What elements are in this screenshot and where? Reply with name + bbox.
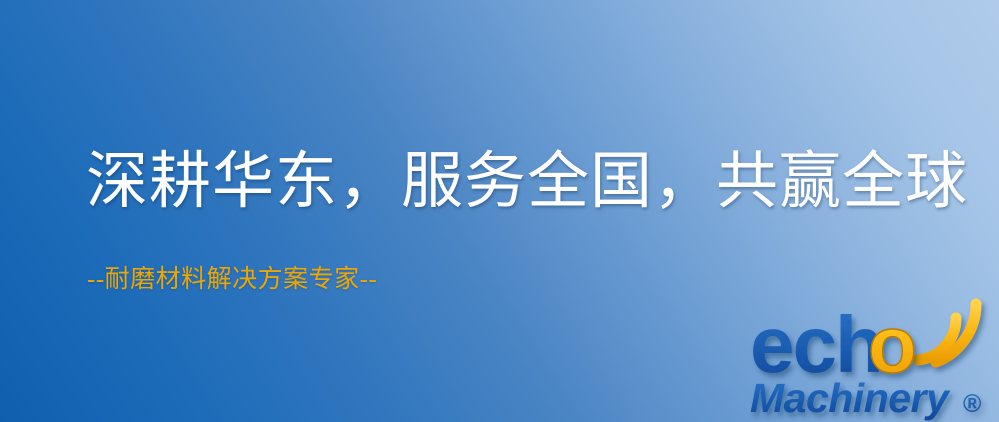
banner-subtitle: --耐磨材料解决方案专家-- bbox=[87, 265, 377, 295]
logo-wordmark-machinery: Machinery bbox=[750, 375, 951, 421]
signal-arcs-icon bbox=[918, 304, 976, 362]
registered-trademark-icon: ® bbox=[963, 390, 982, 418]
promo-banner: 深耕华东，服务全国，共赢全球 --耐磨材料解决方案专家-- bbox=[0, 0, 999, 422]
echo-machinery-logo: ech o Machinery ® bbox=[748, 296, 999, 422]
page-title: 深耕华东，服务全国，共赢全球 bbox=[86, 148, 968, 217]
